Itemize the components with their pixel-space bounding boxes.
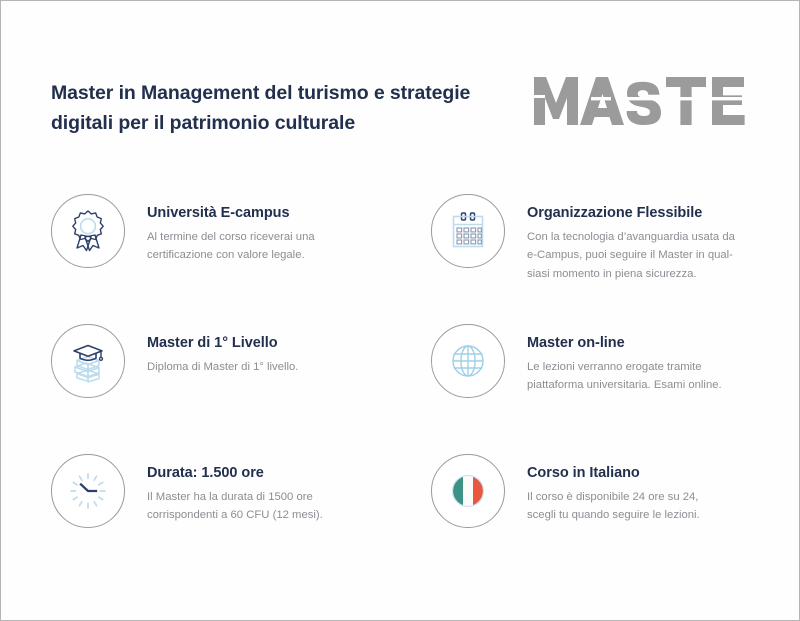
feature-body: Le lezioni verranno erogate tramite piat… (527, 358, 722, 395)
icon-ring (51, 194, 125, 268)
master-wordmark-logo (534, 73, 754, 134)
feature-universita-ecampus: Università E-campus Al termine del corso… (51, 191, 431, 321)
feature-master-primo-livello: Master di 1° Livello Diploma di Master d… (51, 321, 431, 451)
feature-body-line: piattaforma universitaria. Esami online. (527, 376, 722, 394)
feature-text: Università E-campus Al termine del corso… (125, 191, 315, 265)
feature-body: Al termine del corso riceverai una certi… (147, 228, 315, 265)
feature-title: Corso in Italiano (527, 465, 700, 481)
feature-durata-1500-ore: Durata: 1.500 ore Il Master ha la durata… (51, 451, 431, 581)
feature-body-line: Diploma di Master di 1° livello. (147, 358, 298, 376)
feature-body-line: Al termine del corso riceverai una (147, 228, 315, 246)
feature-text: Master on-line Le lezioni verranno eroga… (505, 321, 722, 395)
feature-title: Durata: 1.500 ore (147, 465, 323, 481)
feature-text: Master di 1° Livello Diploma di Master d… (125, 321, 298, 376)
feature-body-line: Il Master ha la durata di 1500 ore (147, 488, 323, 506)
icon-ring (431, 324, 505, 398)
calendar-icon (445, 208, 491, 254)
feature-title: Università E-campus (147, 205, 315, 221)
page-title-line-2: digitali per il patrimonio culturale (51, 112, 355, 134)
feature-body-line: scegli tu quando seguire le lezioni. (527, 506, 700, 524)
feature-body: Il corso è disponibile 24 ore su 24, sce… (527, 488, 700, 525)
feature-body-line: corrispondenti a 60 CFU (12 mesi). (147, 506, 323, 524)
feature-body: Il Master ha la durata di 1500 ore corri… (147, 488, 323, 525)
italian-flag-icon (445, 468, 491, 514)
graduation-cap-books-icon (65, 338, 111, 384)
feature-body: Diploma di Master di 1° livello. (147, 358, 298, 376)
feature-title: Master on-line (527, 335, 722, 351)
award-ribbon-icon (65, 208, 111, 254)
feature-body-line: e-Campus, puoi seguire il Master in qual… (527, 246, 735, 264)
feature-body-line: siasi momento in piena sicurezza. (527, 265, 735, 283)
header: Master in Management del turismo e strat… (51, 79, 759, 138)
feature-organizzazione-flessibile: Organizzazione Flessibile Con la tecnolo… (431, 191, 763, 321)
feature-text: Corso in Italiano Il corso è disponibile… (505, 451, 700, 525)
feature-grid: Università E-campus Al termine del corso… (51, 191, 763, 581)
feature-title: Master di 1° Livello (147, 335, 298, 351)
icon-ring (431, 454, 505, 528)
feature-body-line: certificazione con valore legale. (147, 246, 315, 264)
infographic-page: Master in Management del turismo e strat… (0, 0, 800, 621)
feature-master-online: Master on-line Le lezioni verranno eroga… (431, 321, 763, 451)
clock-icon (65, 468, 111, 514)
page-title: Master in Management del turismo e strat… (51, 79, 470, 138)
feature-corso-in-italiano: Corso in Italiano Il corso è disponibile… (431, 451, 763, 581)
feature-text: Durata: 1.500 ore Il Master ha la durata… (125, 451, 323, 525)
page-title-line-1: Master in Management del turismo e strat… (51, 82, 470, 104)
icon-ring (51, 454, 125, 528)
feature-body-line: Le lezioni verranno erogate tramite (527, 358, 722, 376)
globe-icon (445, 338, 491, 384)
icon-ring (51, 324, 125, 398)
feature-title: Organizzazione Flessibile (527, 205, 735, 221)
icon-ring (431, 194, 505, 268)
feature-text: Organizzazione Flessibile Con la tecnolo… (505, 191, 735, 283)
feature-body-line: Il corso è disponibile 24 ore su 24, (527, 488, 700, 506)
feature-body: Con la tecnologia d’avanguardia usata da… (527, 228, 735, 283)
feature-body-line: Con la tecnologia d’avanguardia usata da (527, 228, 735, 246)
